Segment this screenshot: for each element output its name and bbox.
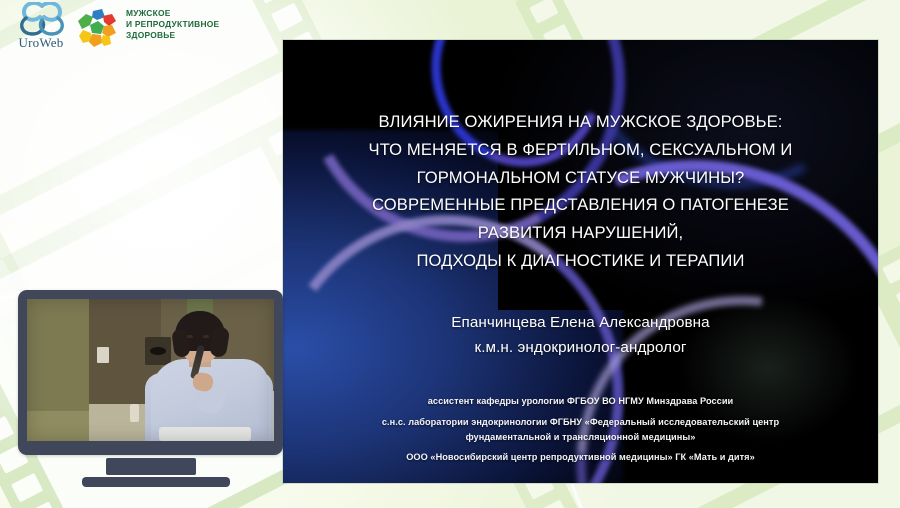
- monitor-bezel: [18, 290, 283, 455]
- mrz-line-3: ЗДОРОВЬЕ: [126, 30, 219, 41]
- affiliation-line-1: ассистент кафедры урологии ФГБОУ ВО НГМУ…: [303, 394, 858, 409]
- title-line-3: ГОРМОНАЛЬНОМ СТАТУСЕ МУЖЧИНЫ?: [313, 164, 848, 192]
- affiliation-line-3: фундаментальной и трансляционной медицин…: [303, 430, 858, 445]
- speaker-video-monitor[interactable]: [18, 290, 283, 482]
- uroweb-mark-icon: [16, 2, 68, 36]
- presentation-slide[interactable]: ВЛИЯНИЕ ОЖИРЕНИЯ НА МУЖСКОЕ ЗДОРОВЬЕ: ЧТ…: [283, 40, 878, 483]
- header-logos: UroWeb МУЖСКОЕ И РЕПРОДУКТИВНОЕ ЗДОРОВЬЕ: [0, 0, 290, 58]
- mrz-line-1: МУЖСКОЕ: [126, 8, 219, 19]
- slide-content: ВЛИЯНИЕ ОЖИРЕНИЯ НА МУЖСКОЕ ЗДОРОВЬЕ: ЧТ…: [283, 40, 878, 483]
- title-line-6: ПОДХОДЫ К ДИАГНОСТИКЕ И ТЕРАПИИ: [313, 247, 848, 275]
- affiliation-block: ассистент кафедры урологии ФГБОУ ВО НГМУ…: [303, 394, 858, 465]
- affiliation-line-4: ООО «Новосибирский центр репродуктивной …: [303, 450, 858, 465]
- presenter-name: Епанчинцева Елена Александровна: [313, 310, 848, 335]
- monitor-stand-neck: [106, 458, 196, 475]
- mrz-line-2: И РЕПРОДУКТИВНОЕ: [126, 19, 219, 30]
- monitor-stand-foot: [82, 477, 230, 487]
- presenter-title: к.м.н. эндокринолог-андролог: [313, 335, 848, 360]
- title-line-1: ВЛИЯНИЕ ОЖИРЕНИЯ НА МУЖСКОЕ ЗДОРОВЬЕ:: [313, 108, 848, 136]
- title-line-2: ЧТО МЕНЯЕТСЯ В ФЕРТИЛЬНОМ, СЕКСУАЛЬНОМ И: [313, 136, 848, 164]
- title-line-4: СОВРЕМЕННЫЕ ПРЕДСТАВЛЕНИЯ О ПАТОГЕНЕЗЕ: [313, 191, 848, 219]
- speaker-video-screen[interactable]: [27, 299, 274, 441]
- title-line-5: РАЗВИТИЯ НАРУШЕНИЙ,: [313, 219, 848, 247]
- mrz-wordmark: МУЖСКОЕ И РЕПРОДУКТИВНОЕ ЗДОРОВЬЕ: [126, 8, 219, 42]
- presenter-block: Епанчинцева Елена Александровна к.м.н. э…: [313, 310, 848, 360]
- mrz-logo[interactable]: МУЖСКОЕ И РЕПРОДУКТИВНОЕ ЗДОРОВЬЕ: [76, 6, 286, 50]
- speaker-video-frame: [27, 299, 274, 441]
- uroweb-wordmark: UroWeb: [10, 35, 72, 51]
- affiliation-line-2: с.н.с. лаборатории эндокринологии ФГБНУ …: [303, 415, 858, 430]
- slide-title: ВЛИЯНИЕ ОЖИРЕНИЯ НА МУЖСКОЕ ЗДОРОВЬЕ: ЧТ…: [313, 108, 848, 275]
- presentation-stage: UroWeb МУЖСКОЕ И РЕПРОДУКТИВНОЕ ЗДОРОВЬЕ: [0, 0, 900, 508]
- uroweb-logo[interactable]: UroWeb: [10, 2, 72, 54]
- puzzle-map-icon: [76, 7, 122, 49]
